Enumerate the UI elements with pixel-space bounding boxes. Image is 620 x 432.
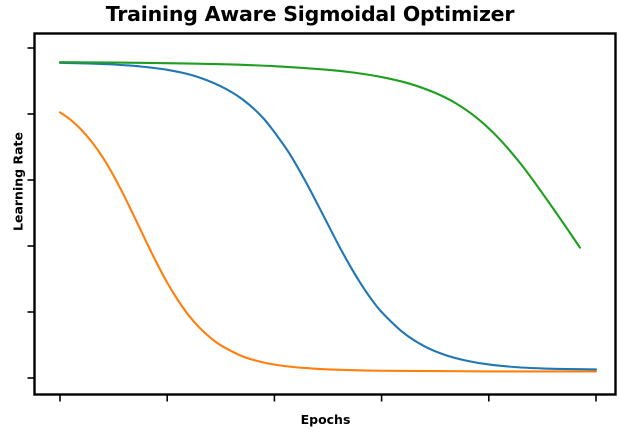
chart-figure: Training Aware Sigmoidal Optimizer Learn… (0, 0, 620, 432)
data-series-group (60, 62, 596, 371)
series-line-mid-decay (60, 63, 596, 370)
plot-area (0, 0, 620, 432)
series-line-slow-decay (60, 62, 580, 247)
series-line-fast-decay (60, 112, 596, 371)
axes-spines (35, 34, 616, 395)
